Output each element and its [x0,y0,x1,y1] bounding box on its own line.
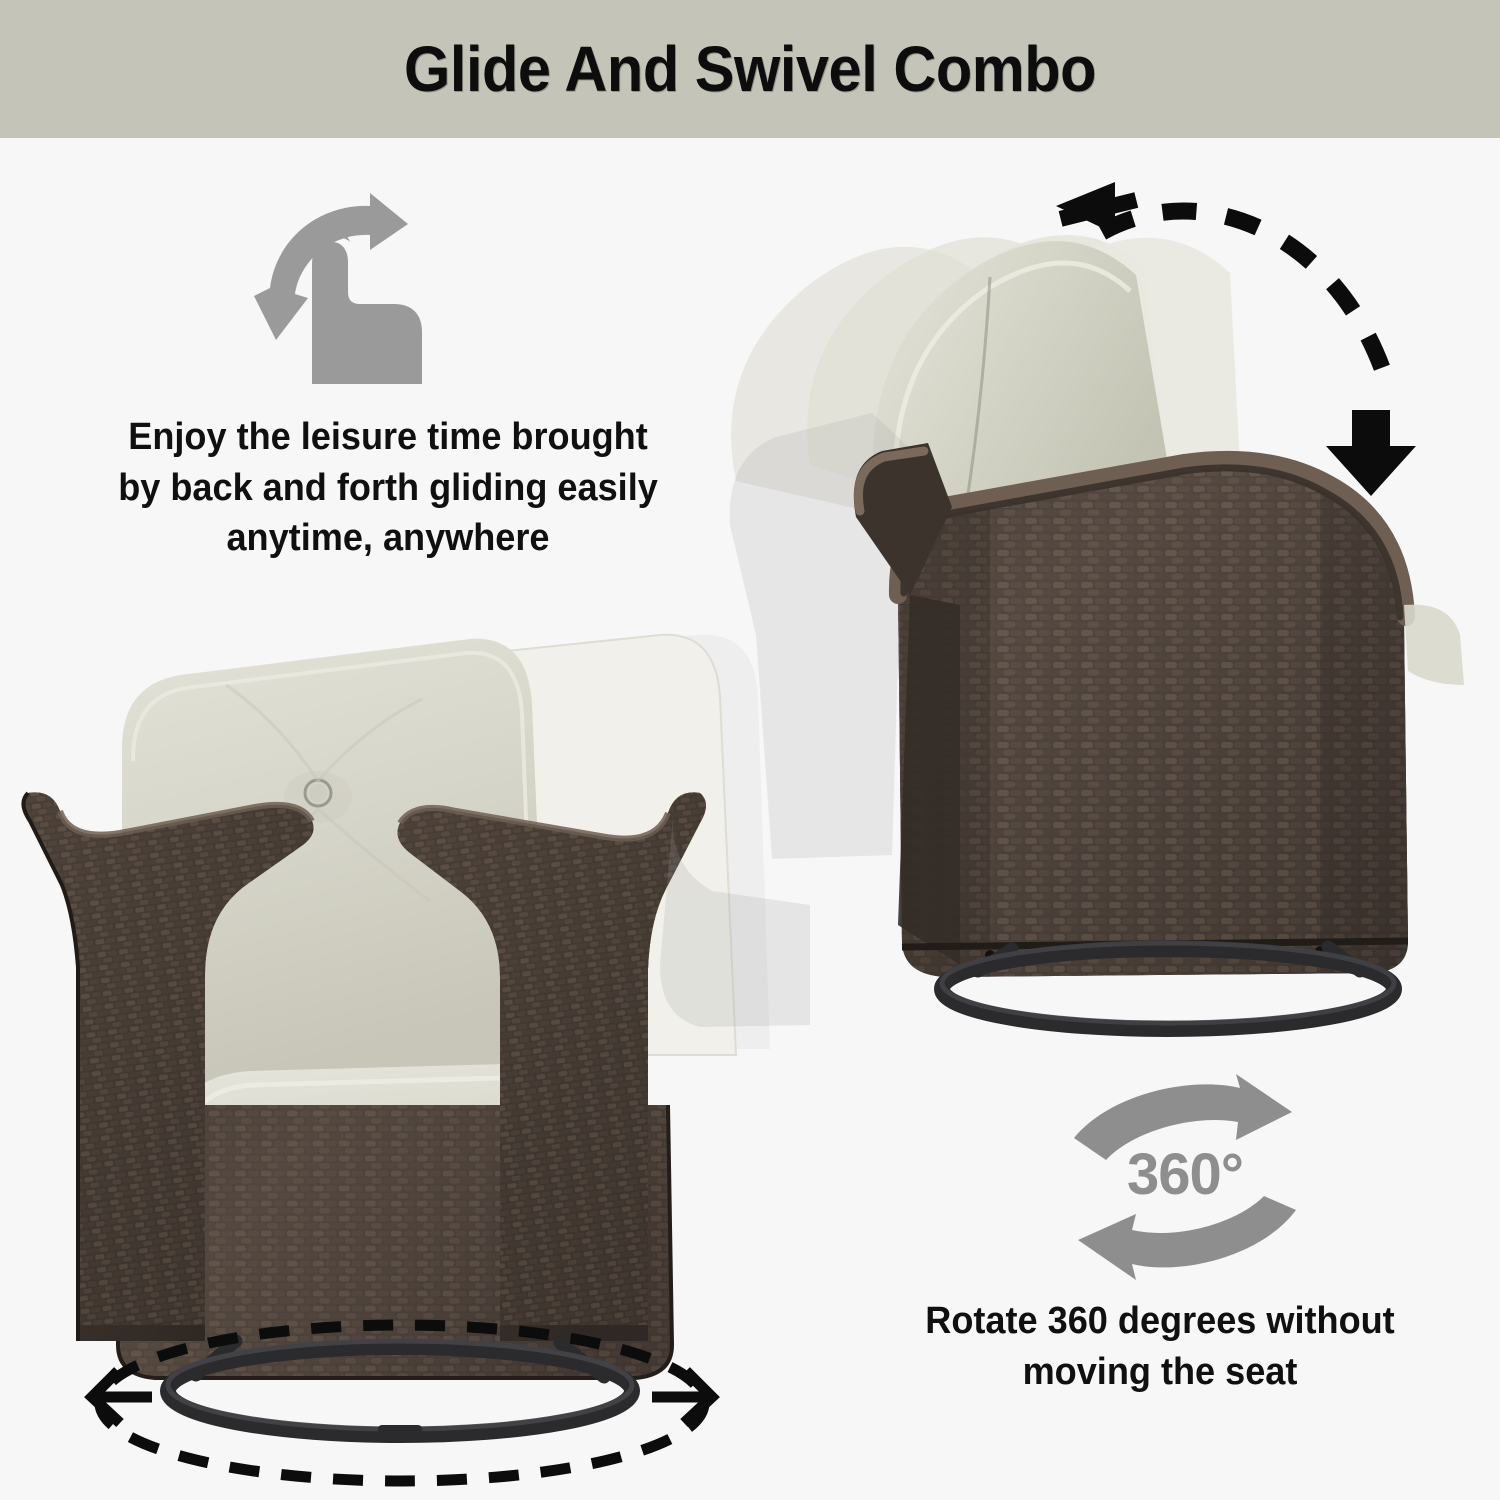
glide-caption: Enjoy the leisure time brought by back a… [75,412,702,564]
rotate-360-label: 360° [1040,1146,1330,1204]
glide-chair-icon [240,188,490,388]
swivel-caption: Rotate 360 degrees without moving the se… [866,1296,1455,1398]
swivel-caption-line-2: moving the seat [866,1347,1455,1398]
glide-path-dashed-arrow [1020,160,1470,540]
header-banner: Glide And Swivel Combo [0,0,1500,138]
glide-caption-line-2: by back and forth gliding easily [75,463,702,514]
glide-caption-line-3: anytime, anywhere [75,513,702,564]
rotate-360-icon: 360° [1040,1078,1330,1293]
swivel-base-side [942,943,1394,1029]
page-title: Glide And Swivel Combo [404,37,1096,101]
glide-caption-line-1: Enjoy the leisure time brought [75,412,702,463]
swivel-caption-line-1: Rotate 360 degrees without [866,1296,1455,1347]
